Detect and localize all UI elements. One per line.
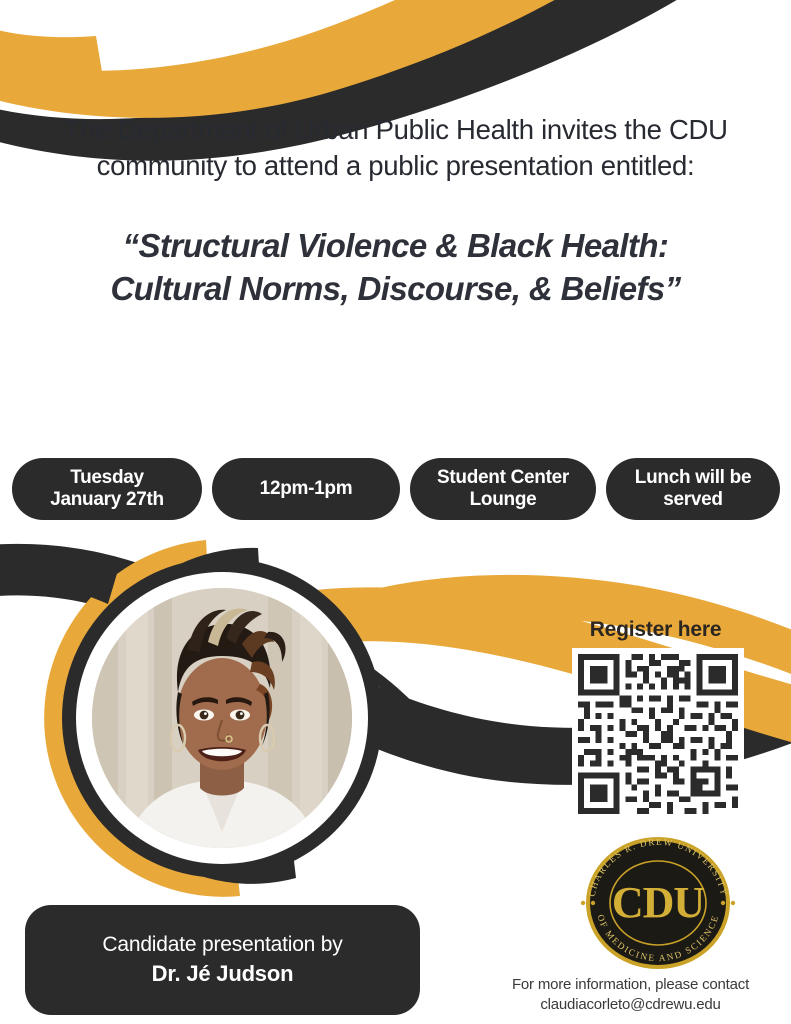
pill-date-line-2: January 27th bbox=[50, 489, 164, 511]
candidate-presentation-box: Candidate presentation by Dr. Jé Judson bbox=[25, 905, 420, 1015]
event-details-pills: Tuesday January 27th 12pm-1pm Student Ce… bbox=[12, 458, 780, 520]
qr-code[interactable] bbox=[572, 648, 744, 820]
title-line-2: Cultural Norms, Discourse, & Beliefs” bbox=[0, 268, 791, 311]
intro-paragraph: The Department of Urban Public Health in… bbox=[0, 112, 791, 184]
pill-location: Student Center Lounge bbox=[410, 458, 596, 520]
cdu-logo: CHARLES R. DREW UNIVERSITY OF MEDICINE A… bbox=[572, 835, 744, 969]
pill-time-line-1: 12pm-1pm bbox=[260, 478, 353, 500]
pill-time: 12pm-1pm bbox=[212, 458, 400, 520]
contact-line-1: For more information, please contact bbox=[470, 975, 791, 995]
presentation-title: “Structural Violence & Black Health: Cul… bbox=[0, 225, 791, 311]
contact-info: For more information, please contact cla… bbox=[470, 975, 791, 1014]
candidate-name: Dr. Jé Judson bbox=[152, 961, 294, 987]
title-line-1: “Structural Violence & Black Health: bbox=[0, 225, 791, 268]
contact-email[interactable]: claudiacorleto@cdrewu.edu bbox=[470, 995, 791, 1015]
seal-monogram-text: CDU bbox=[612, 878, 705, 927]
pill-date-line-1: Tuesday bbox=[50, 467, 164, 489]
portrait-photo bbox=[92, 588, 352, 848]
speaker-portrait bbox=[62, 558, 382, 878]
pill-lunch-line-2: served bbox=[635, 489, 751, 511]
top-gold-left-tail bbox=[0, 10, 102, 74]
pill-lunch: Lunch will be served bbox=[606, 458, 780, 520]
flyer-poster: The Department of Urban Public Health in… bbox=[0, 0, 791, 1024]
pill-location-line-1: Student Center bbox=[437, 467, 569, 489]
candidate-label: Candidate presentation by bbox=[102, 933, 342, 957]
pill-date: Tuesday January 27th bbox=[12, 458, 202, 520]
pill-location-line-2: Lounge bbox=[437, 489, 569, 511]
pill-lunch-line-1: Lunch will be bbox=[635, 467, 751, 489]
intro-line-2: community to attend a public presentatio… bbox=[0, 148, 791, 184]
intro-line-1: The Department of Urban Public Health in… bbox=[0, 112, 791, 148]
register-here-label: Register here bbox=[520, 618, 791, 642]
